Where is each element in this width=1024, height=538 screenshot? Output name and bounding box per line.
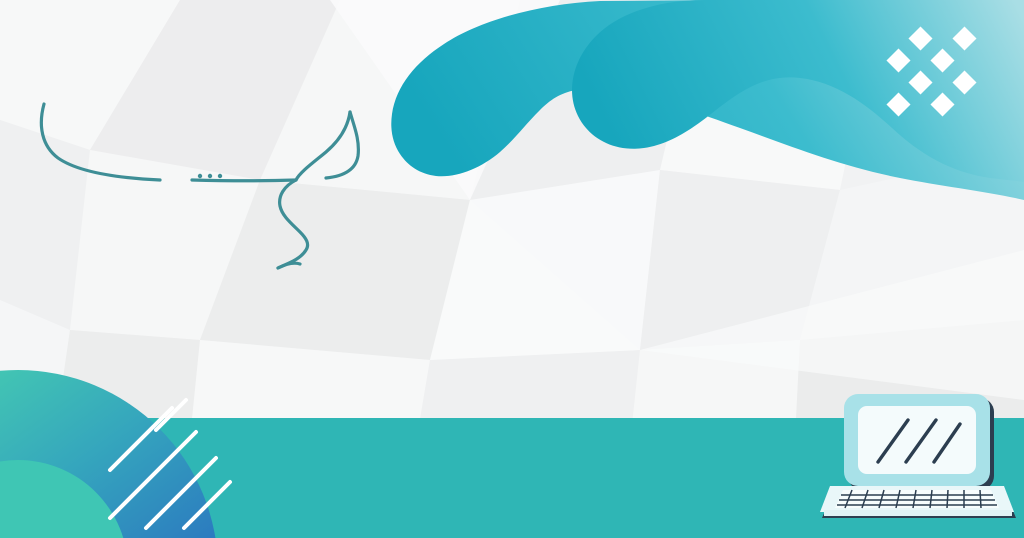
thumbnail-canvas: ビジネスにちょっと 役に立つ <box>0 0 1024 538</box>
laptop-icon <box>0 0 1024 538</box>
